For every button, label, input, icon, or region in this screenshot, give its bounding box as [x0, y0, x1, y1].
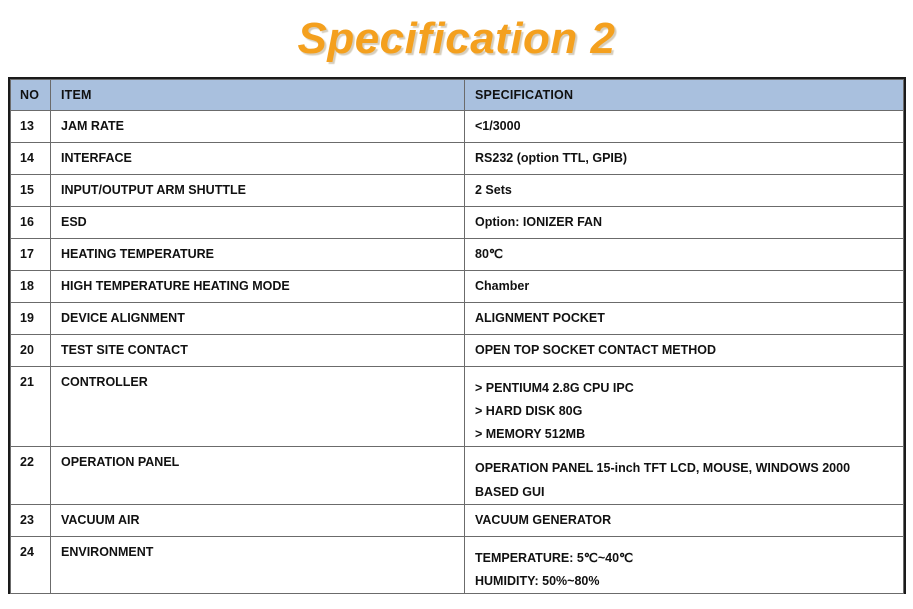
cell-no: 17 [11, 239, 51, 271]
cell-specification-text: TEMPERATURE: 5℃~40℃HUMIDITY: 50%~80% [475, 537, 903, 593]
table-row: 21CONTROLLER> PENTIUM4 2.8G CPU IPC> HAR… [11, 367, 904, 447]
cell-item: OPERATION PANEL [51, 447, 465, 504]
cell-specification: <1/3000 [465, 111, 904, 143]
cell-specification: > PENTIUM4 2.8G CPU IPC> HARD DISK 80G> … [465, 367, 904, 447]
table-body: 13JAM RATE<1/300014INTERFACERS232 (optio… [11, 111, 904, 594]
cell-no-text: 22 [20, 447, 50, 469]
cell-no: 13 [11, 111, 51, 143]
cell-specification-line: Chamber [475, 279, 529, 293]
cell-specification: TEMPERATURE: 5℃~40℃HUMIDITY: 50%~80% [465, 536, 904, 593]
table-row: 20TEST SITE CONTACTOPEN TOP SOCKET CONTA… [11, 335, 904, 367]
cell-item: INPUT/OUTPUT ARM SHUTTLE [51, 175, 465, 207]
specification-page: Specification 2 NO ITEM SPECIFICATION 13… [0, 0, 913, 609]
cell-no: 18 [11, 271, 51, 303]
cell-no-text: 20 [20, 335, 50, 357]
cell-specification: OPERATION PANEL 15-inch TFT LCD, MOUSE, … [465, 447, 904, 504]
cell-specification-line: > HARD DISK 80G [475, 400, 903, 423]
specification-table-container: NO ITEM SPECIFICATION 13JAM RATE<1/30001… [8, 77, 906, 594]
cell-no: 22 [11, 447, 51, 504]
page-title-container: Specification 2 [0, 0, 913, 76]
cell-specification-line: <1/3000 [475, 119, 521, 133]
cell-specification-line: HUMIDITY: 50%~80% [475, 570, 903, 593]
cell-item-text: ENVIRONMENT [61, 537, 464, 559]
cell-specification-line: ALIGNMENT POCKET [475, 311, 605, 325]
table-row: 16ESDOption: IONIZER FAN [11, 207, 904, 239]
table-row: 15INPUT/OUTPUT ARM SHUTTLE2 Sets [11, 175, 904, 207]
cell-no-text: 14 [20, 143, 50, 165]
cell-item-text: TEST SITE CONTACT [61, 335, 464, 357]
cell-no: 23 [11, 504, 51, 536]
cell-specification: VACUUM GENERATOR [465, 504, 904, 536]
cell-specification: 2 Sets [465, 175, 904, 207]
cell-item-text: INPUT/OUTPUT ARM SHUTTLE [61, 175, 464, 197]
cell-no: 21 [11, 367, 51, 447]
column-header-specification: SPECIFICATION [465, 80, 904, 111]
cell-specification-line: > PENTIUM4 2.8G CPU IPC [475, 377, 903, 400]
cell-item-text: CONTROLLER [61, 367, 464, 389]
cell-specification-line: 80℃ [475, 247, 503, 261]
cell-no-text: 18 [20, 271, 50, 293]
table-row: 18HIGH TEMPERATURE HEATING MODEChamber [11, 271, 904, 303]
cell-specification-text: ALIGNMENT POCKET [475, 303, 903, 325]
cell-item-text: HIGH TEMPERATURE HEATING MODE [61, 271, 464, 293]
cell-item: TEST SITE CONTACT [51, 335, 465, 367]
cell-specification-text: > PENTIUM4 2.8G CPU IPC> HARD DISK 80G> … [475, 367, 903, 446]
table-row: 22OPERATION PANELOPERATION PANEL 15-inch… [11, 447, 904, 504]
cell-item: HIGH TEMPERATURE HEATING MODE [51, 271, 465, 303]
cell-specification-text: Chamber [475, 271, 903, 293]
cell-item: VACUUM AIR [51, 504, 465, 536]
cell-item-text: HEATING TEMPERATURE [61, 239, 464, 261]
cell-item: JAM RATE [51, 111, 465, 143]
cell-specification-text: <1/3000 [475, 111, 903, 133]
cell-no-text: 21 [20, 367, 50, 389]
table-row: 13JAM RATE<1/3000 [11, 111, 904, 143]
cell-specification-line: > MEMORY 512MB [475, 423, 903, 446]
cell-specification-text: Option: IONIZER FAN [475, 207, 903, 229]
cell-item: CONTROLLER [51, 367, 465, 447]
cell-item: INTERFACE [51, 143, 465, 175]
cell-item-text: DEVICE ALIGNMENT [61, 303, 464, 325]
cell-item-text: VACUUM AIR [61, 505, 464, 527]
cell-item: DEVICE ALIGNMENT [51, 303, 465, 335]
cell-no-text: 19 [20, 303, 50, 325]
cell-item: HEATING TEMPERATURE [51, 239, 465, 271]
cell-specification-text: OPERATION PANEL 15-inch TFT LCD, MOUSE, … [475, 447, 903, 503]
cell-no-text: 16 [20, 207, 50, 229]
cell-no-text: 17 [20, 239, 50, 261]
specification-table: NO ITEM SPECIFICATION 13JAM RATE<1/30001… [10, 79, 904, 594]
cell-specification-line: OPERATION PANEL 15-inch TFT LCD, MOUSE, … [475, 457, 903, 480]
cell-specification: 80℃ [465, 239, 904, 271]
cell-specification-text: 2 Sets [475, 175, 903, 197]
cell-no: 19 [11, 303, 51, 335]
cell-no: 24 [11, 536, 51, 593]
column-header-no: NO [11, 80, 51, 111]
cell-specification-text: 80℃ [475, 239, 903, 261]
cell-item-text: ESD [61, 207, 464, 229]
cell-item: ENVIRONMENT [51, 536, 465, 593]
cell-no-text: 23 [20, 505, 50, 527]
table-row: 17HEATING TEMPERATURE80℃ [11, 239, 904, 271]
page-title: Specification 2 [297, 17, 615, 61]
cell-no-text: 15 [20, 175, 50, 197]
table-row: 14INTERFACERS232 (option TTL, GPIB) [11, 143, 904, 175]
cell-no-text: 24 [20, 537, 50, 559]
cell-specification-line: TEMPERATURE: 5℃~40℃ [475, 547, 903, 570]
table-header: NO ITEM SPECIFICATION [11, 80, 904, 111]
cell-specification-line: VACUUM GENERATOR [475, 513, 611, 527]
cell-specification-text: VACUUM GENERATOR [475, 505, 903, 527]
cell-item-text: OPERATION PANEL [61, 447, 464, 469]
cell-no: 15 [11, 175, 51, 207]
cell-item-text: JAM RATE [61, 111, 464, 133]
cell-specification: Option: IONIZER FAN [465, 207, 904, 239]
table-header-row: NO ITEM SPECIFICATION [11, 80, 904, 111]
cell-specification-line: BASED GUI [475, 481, 903, 504]
cell-specification-line: RS232 (option TTL, GPIB) [475, 151, 627, 165]
cell-specification-text: OPEN TOP SOCKET CONTACT METHOD [475, 335, 903, 357]
table-row: 23VACUUM AIRVACUUM GENERATOR [11, 504, 904, 536]
cell-specification-line: Option: IONIZER FAN [475, 215, 602, 229]
cell-specification: OPEN TOP SOCKET CONTACT METHOD [465, 335, 904, 367]
cell-specification-line: OPEN TOP SOCKET CONTACT METHOD [475, 343, 716, 357]
column-header-item: ITEM [51, 80, 465, 111]
cell-specification-line: 2 Sets [475, 183, 512, 197]
cell-item-text: INTERFACE [61, 143, 464, 165]
cell-specification: ALIGNMENT POCKET [465, 303, 904, 335]
table-row: 19DEVICE ALIGNMENTALIGNMENT POCKET [11, 303, 904, 335]
cell-specification: Chamber [465, 271, 904, 303]
cell-no: 14 [11, 143, 51, 175]
cell-specification-text: RS232 (option TTL, GPIB) [475, 143, 903, 165]
cell-item: ESD [51, 207, 465, 239]
cell-specification: RS232 (option TTL, GPIB) [465, 143, 904, 175]
cell-no-text: 13 [20, 111, 50, 133]
cell-no: 16 [11, 207, 51, 239]
table-row: 24ENVIRONMENTTEMPERATURE: 5℃~40℃HUMIDITY… [11, 536, 904, 593]
cell-no: 20 [11, 335, 51, 367]
